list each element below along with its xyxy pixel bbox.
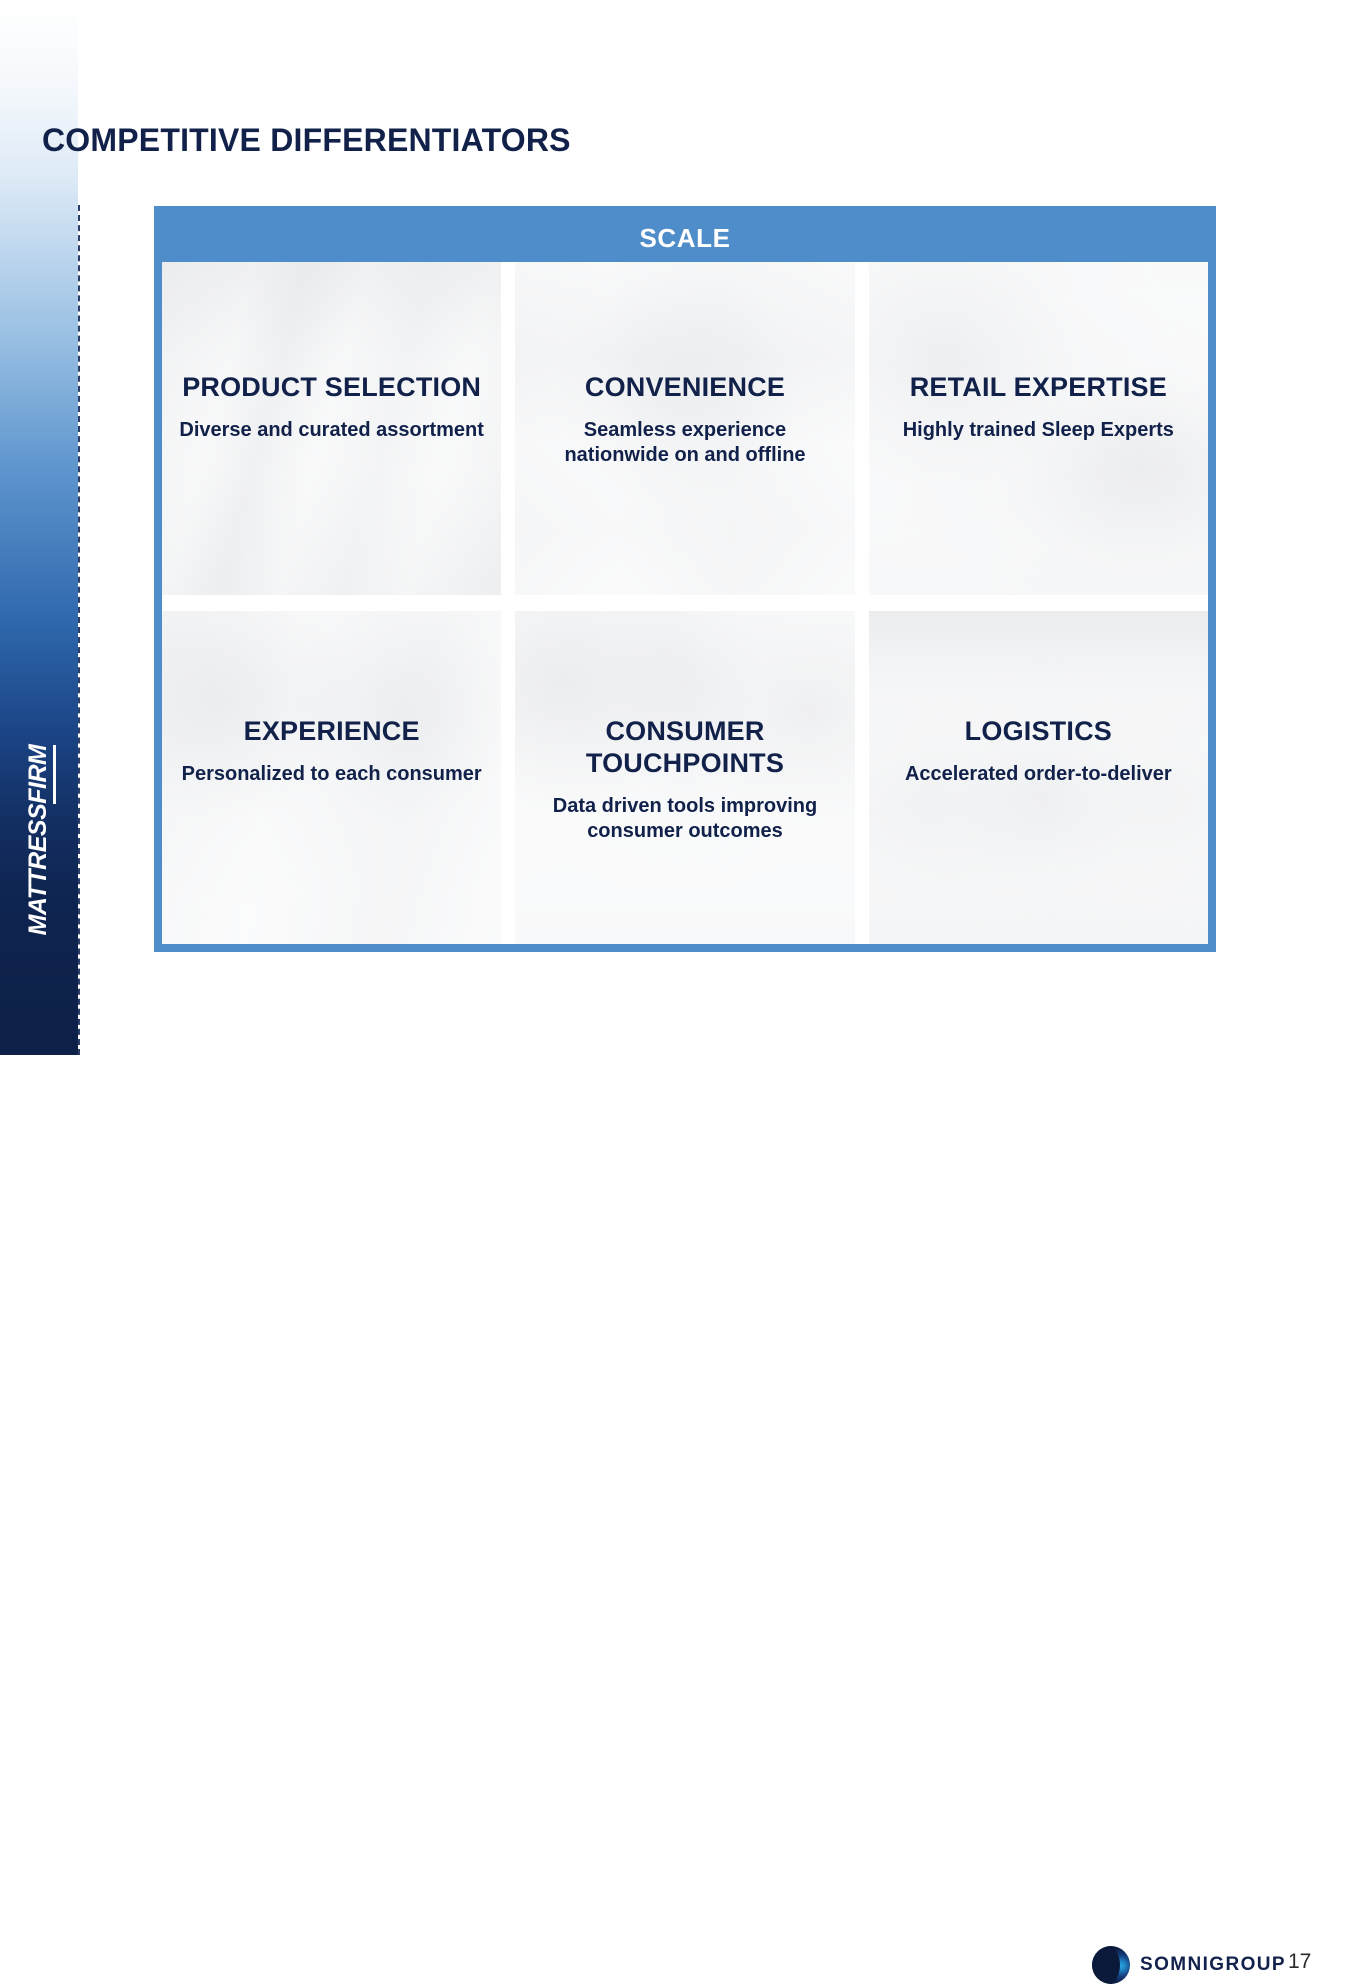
cell-heading: LOGISTICS: [883, 716, 1194, 748]
mattress-firm-logo-prefix: MATTRESS: [24, 804, 52, 936]
differentiator-cell-retail-expertise: RETAIL EXPERTISE Highly trained Sleep Ex…: [869, 262, 1208, 595]
scale-header: SCALE: [162, 214, 1208, 262]
differentiator-cell-product-selection: PRODUCT SELECTION Diverse and curated as…: [162, 262, 501, 595]
cell-heading: CONVENIENCE: [529, 372, 840, 404]
differentiator-cell-convenience: CONVENIENCE Seamless experience nationwi…: [515, 262, 854, 595]
page-number: 17: [1288, 1950, 1311, 1974]
somnigroup-logo: SOMNIGROUP: [1092, 1946, 1286, 1984]
somnigroup-logo-text: SOMNIGROUP: [1140, 1954, 1286, 1976]
differentiators-grid: PRODUCT SELECTION Diverse and curated as…: [162, 262, 1208, 944]
differentiator-cell-consumer-touchpoints: CONSUMER TOUCHPOINTS Data driven tools i…: [515, 611, 854, 944]
slide-footer: SOMNIGROUP 17: [0, 968, 1365, 1038]
cell-heading: RETAIL EXPERTISE: [883, 372, 1194, 404]
cell-content: LOGISTICS Accelerated order-to-deliver: [869, 716, 1208, 787]
cell-content: CONSUMER TOUCHPOINTS Data driven tools i…: [515, 716, 854, 845]
cell-content: RETAIL EXPERTISE Highly trained Sleep Ex…: [869, 372, 1208, 443]
differentiator-cell-logistics: LOGISTICS Accelerated order-to-deliver: [869, 611, 1208, 944]
mattress-firm-logo-suffix: FIRM: [24, 745, 56, 804]
cell-subtitle: Personalized to each consumer: [176, 762, 487, 788]
somnigroup-mark-icon: [1092, 1946, 1130, 1984]
mattress-firm-logo: MATTRESSFIRM: [18, 740, 58, 940]
cell-heading: PRODUCT SELECTION: [176, 372, 487, 404]
differentiator-cell-experience: EXPERIENCE Personalized to each consumer: [162, 611, 501, 944]
cell-subtitle: Highly trained Sleep Experts: [883, 418, 1194, 444]
cell-subtitle: Diverse and curated assortment: [176, 418, 487, 444]
cell-subtitle: Data driven tools improving consumer out…: [529, 794, 840, 845]
mattress-firm-logo-text: MATTRESSFIRM: [26, 745, 51, 936]
cell-content: PRODUCT SELECTION Diverse and curated as…: [162, 372, 501, 443]
cell-heading: EXPERIENCE: [176, 716, 487, 748]
cell-subtitle: Accelerated order-to-deliver: [883, 762, 1194, 788]
cell-subtitle: Seamless experience nationwide on and of…: [529, 418, 840, 469]
page-title: COMPETITIVE DIFFERENTIATORS: [42, 122, 571, 159]
cell-content: EXPERIENCE Personalized to each consumer: [162, 716, 501, 787]
cell-content: CONVENIENCE Seamless experience nationwi…: [515, 372, 854, 469]
dashed-divider: [78, 205, 80, 1055]
competitive-differentiators-panel: SCALE PRODUCT SELECTION Diverse and cura…: [154, 206, 1216, 952]
cell-heading: CONSUMER TOUCHPOINTS: [529, 716, 840, 780]
